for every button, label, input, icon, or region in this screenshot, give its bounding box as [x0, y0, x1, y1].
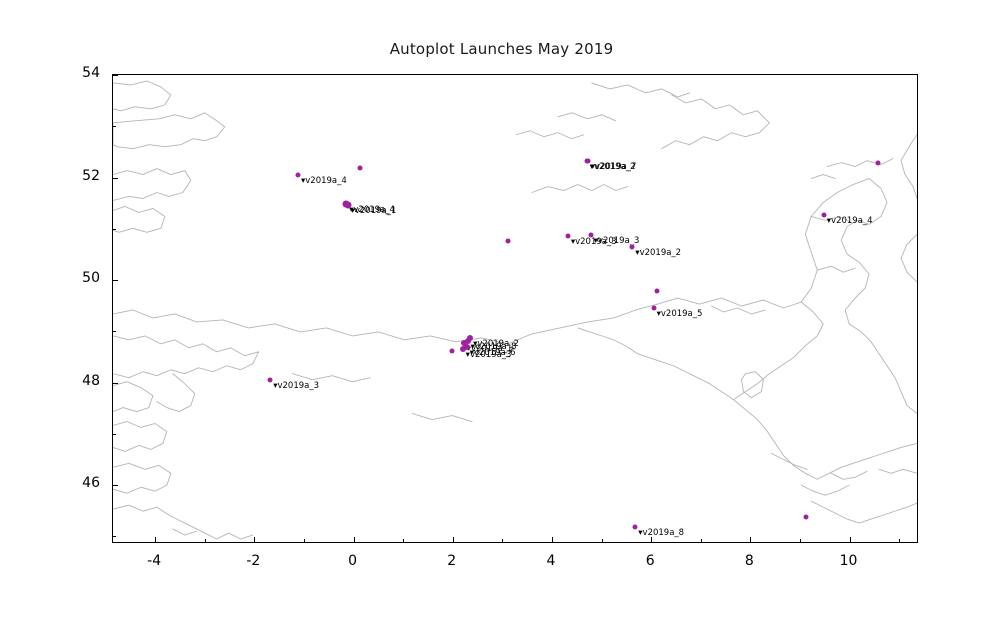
y-tick: [112, 383, 118, 384]
x-tick-label: 10: [840, 553, 858, 569]
x-tick: [552, 537, 553, 543]
y-tick: [112, 229, 116, 230]
x-tick-label: 8: [745, 553, 754, 569]
data-point: [449, 348, 454, 353]
data-point: [655, 289, 660, 294]
data-point: [565, 234, 570, 239]
map-axes[interactable]: ▾v2019a_4▾v2019a_4▾v2019a_1▾v2019a_7▾v20…: [112, 74, 918, 543]
data-point: [506, 238, 511, 243]
x-tick: [502, 539, 503, 543]
data-point-label: ▾v2019a_4: [827, 217, 873, 226]
page-title: Autoplot Launches May 2019: [0, 40, 1003, 58]
data-point-label: ▾v2019a_4: [301, 177, 347, 186]
data-point: [588, 232, 593, 237]
data-point: [630, 244, 635, 249]
data-point-label: ▾v2019a_2: [590, 163, 636, 172]
y-tick: [112, 280, 118, 281]
data-point: [876, 161, 881, 166]
x-tick: [850, 537, 851, 543]
x-tick: [155, 537, 156, 543]
x-tick: [304, 539, 305, 543]
y-tick: [112, 178, 118, 179]
x-tick: [899, 539, 900, 543]
y-tick: [112, 536, 116, 537]
data-point: [296, 172, 301, 177]
x-tick-label: 6: [646, 553, 655, 569]
figure-canvas: Autoplot Launches May 2019: [0, 0, 1003, 633]
data-point-label: ▾v2019a_1: [351, 207, 397, 216]
data-point-label: ▾v2019a_3: [466, 351, 512, 360]
x-tick: [651, 537, 652, 543]
y-tick: [112, 485, 118, 486]
data-point-label: ▾v2019a_5: [657, 310, 703, 319]
x-tick: [602, 539, 603, 543]
data-point: [803, 514, 808, 519]
x-tick: [254, 537, 255, 543]
data-point: [268, 377, 273, 382]
x-tick: [354, 537, 355, 543]
data-point: [821, 212, 826, 217]
x-tick: [453, 537, 454, 543]
x-tick-label: 2: [447, 553, 456, 569]
y-tick: [112, 126, 116, 127]
data-points-layer: ▾v2019a_4▾v2019a_4▾v2019a_1▾v2019a_7▾v20…: [113, 75, 917, 542]
data-point: [584, 159, 589, 164]
x-tick: [701, 539, 702, 543]
y-tick: [112, 75, 118, 76]
x-tick-label: -2: [246, 553, 260, 569]
data-point-label: ▾v2019a_8: [638, 529, 684, 538]
data-point: [633, 525, 638, 530]
data-point: [651, 306, 656, 311]
x-tick: [750, 537, 751, 543]
x-tick: [205, 539, 206, 543]
data-point-label: ▾v2019a_2: [635, 249, 681, 258]
x-tick-label: 0: [348, 553, 357, 569]
x-tick-label: -4: [147, 553, 161, 569]
x-tick: [800, 539, 801, 543]
x-tick-label: 4: [546, 553, 555, 569]
data-point: [357, 166, 362, 171]
x-tick: [403, 539, 404, 543]
y-tick: [112, 434, 116, 435]
data-point-label: ▾v2019a_3: [273, 382, 319, 391]
y-tick: [112, 331, 116, 332]
